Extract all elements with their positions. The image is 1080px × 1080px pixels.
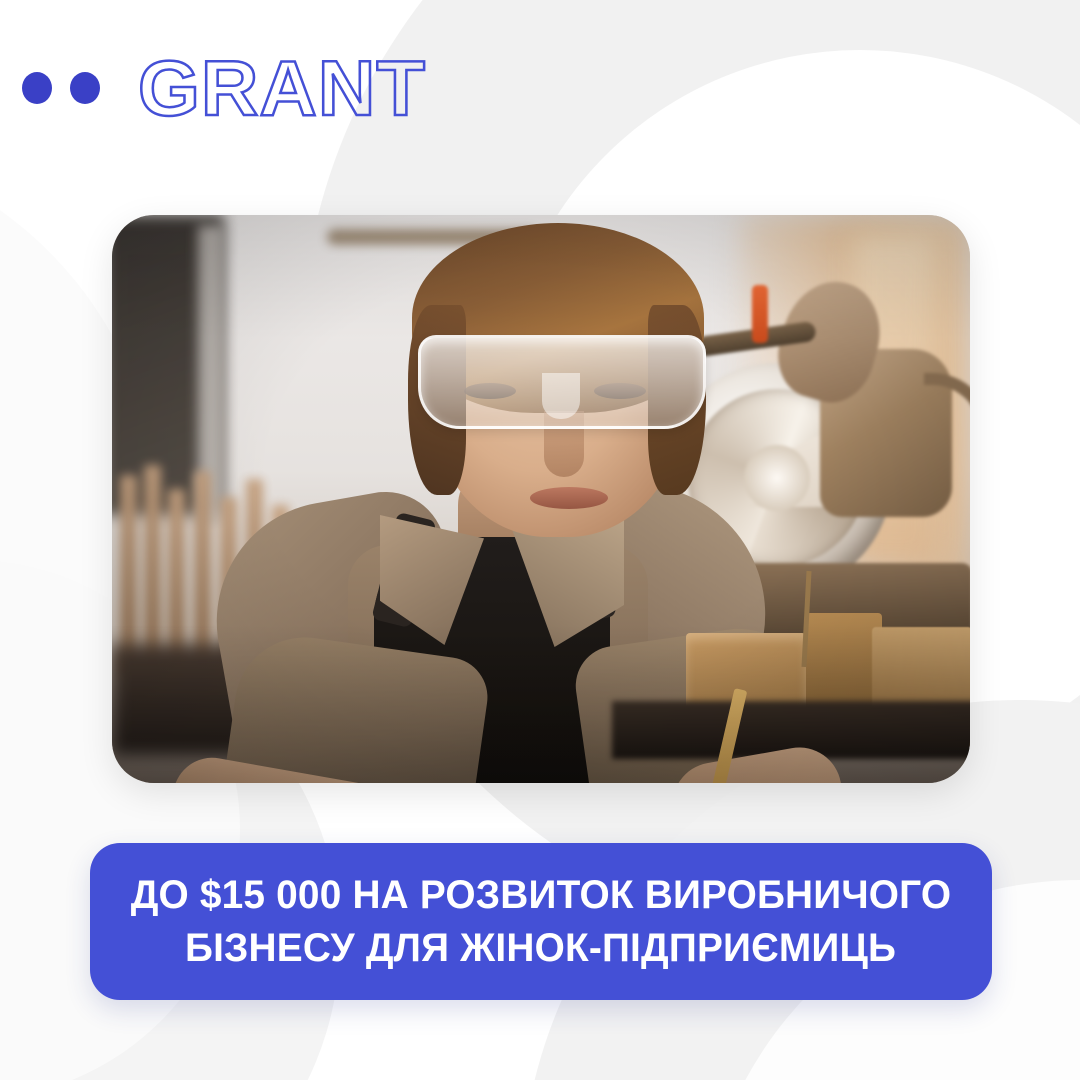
hero-photo-card bbox=[112, 215, 970, 783]
headline-line-2: БІЗНЕСУ ДЛЯ ЖІНОК-ПІДПРИЄМИЦЬ bbox=[185, 922, 896, 975]
brand-logo: GRANT bbox=[22, 52, 420, 124]
hero-photo-scene bbox=[112, 215, 970, 783]
brand-dot-icon-second bbox=[70, 72, 100, 104]
headline-banner: ДО $15 000 НА РОЗВИТОК ВИРОБНИЧОГО БІЗНЕ… bbox=[90, 843, 992, 1000]
brand-dot-icon-first bbox=[22, 72, 52, 104]
brand-logo-text: GRANT bbox=[138, 49, 426, 127]
photo-vignette bbox=[112, 215, 970, 783]
headline-line-1: ДО $15 000 НА РОЗВИТОК ВИРОБНИЧОГО bbox=[131, 869, 952, 922]
promo-canvas: GRANT bbox=[0, 0, 1080, 1080]
